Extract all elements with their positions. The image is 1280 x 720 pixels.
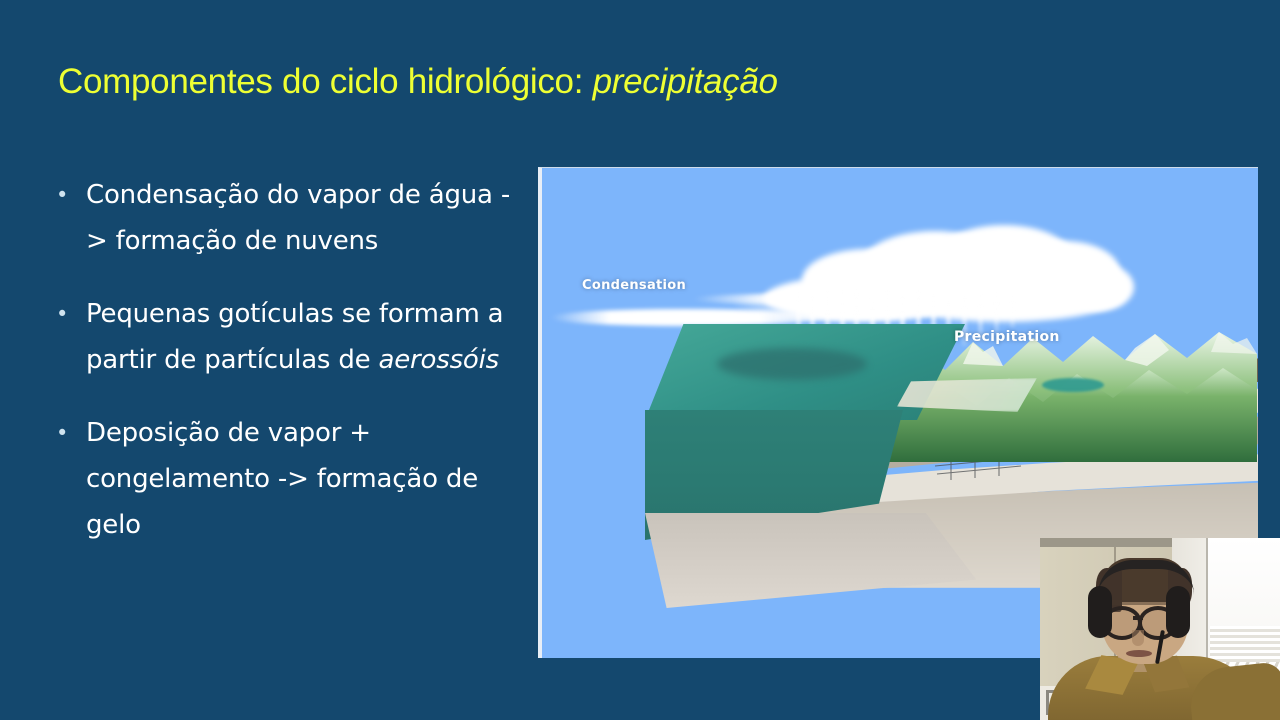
slide-canvas: Componentes do ciclo hidrológico: precip… [0,0,1280,720]
webcam-cabinet-top [1040,538,1180,547]
list-item: • Pequenas gotículas se formam a partir … [48,291,518,383]
page-title: Componentes do ciclo hidrológico: precip… [58,60,1158,104]
bullet-text: Pequenas gotículas se formam a partir de… [86,291,518,383]
bullet-text-italic: aerossóis [379,345,500,375]
ocean-deep-patch [717,348,867,380]
bullet-text-plain: Deposição de vapor + congelamento -> for… [86,418,478,540]
list-item: • Condensação do vapor de água -> formaç… [48,172,518,264]
webcam-overlay[interactable] [1040,538,1280,720]
glasses-bridge-icon [1133,616,1143,620]
bullet-text-plain: Condensação do vapor de água -> formação… [86,180,510,256]
shoreline [897,378,1037,412]
list-item: • Deposição de vapor + congelamento -> f… [48,410,518,548]
bullet-text: Condensação do vapor de água -> formação… [86,172,518,264]
headphones-earcup-icon [1088,586,1112,638]
bullet-marker-icon: • [48,291,86,337]
page-title-emphasis: precipitação [593,62,778,101]
page-title-main: Componentes do ciclo hidrológico: [58,62,593,101]
bullet-marker-icon: • [48,172,86,218]
label-precipitation: Precipitation [954,329,1060,345]
bullet-text: Deposição de vapor + congelamento -> for… [86,410,518,548]
bullet-list: • Condensação do vapor de água -> formaç… [48,172,518,575]
inland-lake [1042,378,1104,392]
bullet-marker-icon: • [48,410,86,456]
avatar-nose [1132,630,1144,646]
headphones-earcup-icon [1166,586,1190,638]
avatar-mouth [1126,650,1152,657]
label-condensation: Condensation [582,278,686,293]
